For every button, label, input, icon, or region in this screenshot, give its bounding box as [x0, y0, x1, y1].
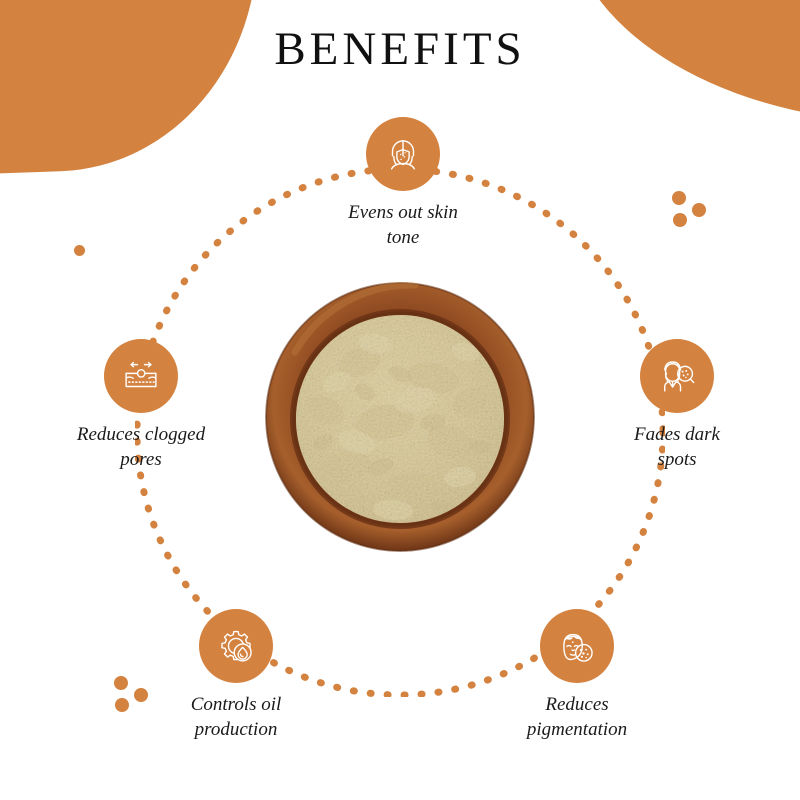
dot-single-left [74, 245, 85, 256]
benefit-label-line-2: pigmentation [527, 719, 627, 740]
infographic-canvas: BENEFITS [0, 0, 800, 800]
benefit-label-line-2: pores [120, 449, 162, 470]
cluster-dot [672, 191, 686, 205]
benefit-label-fades-dark-spots: Fades dark spots [577, 422, 777, 472]
person-magnifier-spots-icon[interactable] [640, 339, 714, 413]
benefit-label-line-1: Reduces [545, 694, 608, 715]
benefit-label-line-2: tone [387, 227, 420, 248]
benefit-label-evens-out-skin-tone: Evens out skin tone [303, 200, 503, 250]
benefit-label-line-2: spots [657, 449, 696, 470]
face-pigmentation-icon[interactable] [540, 609, 614, 683]
gear-oil-drop-icon[interactable] [199, 609, 273, 683]
cluster-dot [673, 213, 687, 227]
benefit-label-reduces-clogged-pores: Reduces clogged pores [41, 422, 241, 472]
face-shield-icon[interactable] [366, 117, 440, 191]
benefit-label-line-1: Reduces clogged [77, 424, 205, 445]
page-title: BENEFITS [0, 22, 800, 76]
benefit-label-line-1: Fades dark [634, 424, 720, 445]
benefit-label-line-1: Evens out skin [348, 202, 458, 223]
cluster-dot [134, 688, 148, 702]
wooden-bowl-of-powder [265, 282, 535, 552]
benefit-label-controls-oil-production: Controls oil production [136, 692, 336, 742]
cluster-dot [114, 676, 128, 690]
cluster-dot [115, 698, 129, 712]
skin-layer-pore-icon[interactable] [104, 339, 178, 413]
benefit-label-line-2: production [195, 719, 278, 740]
benefit-label-reduces-pigmentation: Reduces pigmentation [477, 692, 677, 742]
benefit-label-line-1: Controls oil [191, 694, 282, 715]
dot-cluster-top-right [672, 191, 718, 237]
dot-cluster-bottom-left [114, 676, 160, 722]
cluster-dot [692, 203, 706, 217]
